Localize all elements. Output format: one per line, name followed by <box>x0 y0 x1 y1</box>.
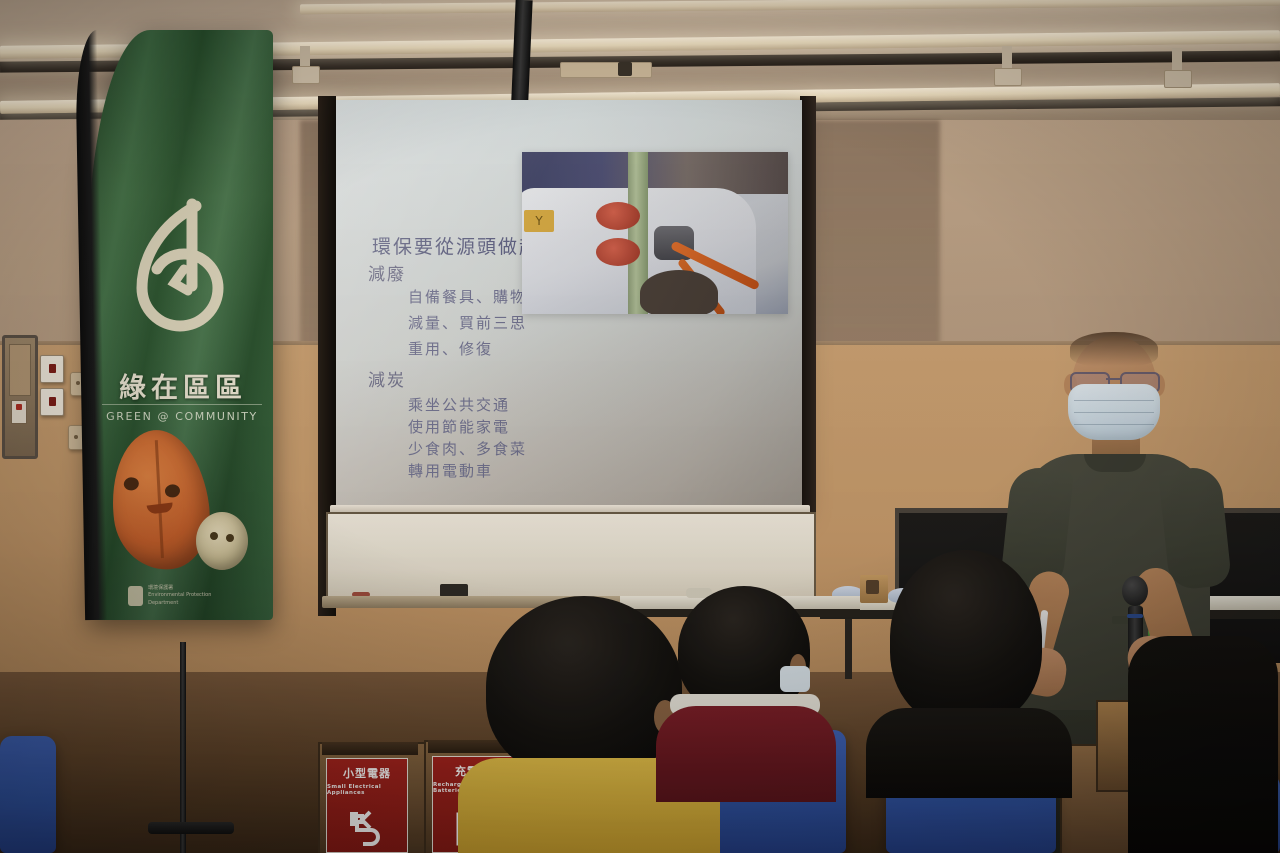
photo-tail-lamp <box>596 202 640 230</box>
microphone-head-icon <box>1122 576 1148 606</box>
audience-chair[interactable] <box>0 736 56 853</box>
slide-heading-reduce-carbon: 減炭 <box>368 366 406 391</box>
slide-bullet: 少食肉、多食菜 <box>408 438 527 459</box>
panel-face <box>9 344 31 396</box>
photo-foreground-shadow <box>640 270 718 314</box>
bin-label-small-appliances: 小型電器 Small Electrical Appliances <box>326 758 408 853</box>
audience-head <box>890 550 1042 726</box>
audience-face-mask <box>780 666 810 692</box>
plug-icon <box>344 806 390 850</box>
epd-name-en: Environmental Protection Department <box>148 592 220 607</box>
epd-name-cn: 環境保護署 <box>148 585 220 592</box>
green-community-logo-icon <box>122 190 238 355</box>
light-mount-plate <box>1164 70 1192 88</box>
feather-flag-banner: 綠在區區 GREEN @ COMMUNITY 環境保護署 Environment… <box>88 30 273 620</box>
photo-licence-plate: Y <box>524 210 554 232</box>
banner-chinese-title: 綠在區區 <box>108 366 258 405</box>
bin-label-en: Small Electrical Appliances <box>327 784 407 796</box>
wall-switch[interactable] <box>40 388 64 416</box>
beige-roll-mascot-icon <box>196 512 248 570</box>
switch-indicator <box>49 364 56 373</box>
projection-screen: 環保要從源頭做起 減廢 自備餐具、購物袋 減量、買前三思 重用、修復 減炭 乘坐… <box>336 100 802 508</box>
audience-top-dark <box>1128 636 1278 853</box>
speaker-collar <box>1084 454 1146 472</box>
light-mount-plate <box>994 68 1022 86</box>
wood-stand-slot <box>866 580 879 594</box>
photo-scene: 綠在區區 GREEN @ COMMUNITY 環境保護署 Environment… <box>0 0 1280 853</box>
epd-logo: 環境保護署 Environmental Protection Departmen… <box>128 583 220 609</box>
ceiling-sensor <box>618 62 632 76</box>
audience-top-dark <box>866 708 1072 798</box>
slide-title: 環保要從源頭做起 <box>372 232 540 259</box>
wall-switch[interactable] <box>40 355 64 383</box>
audience-sweater-maroon <box>656 706 836 802</box>
slide-photo-ev-charging: Y <box>522 152 788 314</box>
panel-indicator <box>11 400 27 424</box>
photo-tail-lamp <box>596 238 640 266</box>
slide-heading-reduce-waste: 減廢 <box>368 260 406 285</box>
table-leg <box>845 619 852 679</box>
banner-english-title: GREEN @ COMMUNITY <box>102 404 262 423</box>
ceiling-vent <box>560 62 652 78</box>
slide-bullet: 重用、修復 <box>408 338 493 359</box>
slide-bullet: 乘坐公共交通 <box>408 394 510 415</box>
banner-base <box>148 822 234 834</box>
epd-mark-icon <box>128 586 143 606</box>
audience-member-right <box>1128 606 1278 853</box>
slide-bullet: 減量、買前三思 <box>408 312 527 333</box>
audience-head <box>486 596 682 778</box>
light-mount-plate <box>292 66 320 84</box>
bin-label-cn: 小型電器 <box>343 765 391 781</box>
audience-member-dark <box>880 550 1050 780</box>
slide-bullet: 轉用電動車 <box>408 460 493 481</box>
slide-bullet: 使用節能家電 <box>408 416 510 437</box>
audience-member-maroon <box>664 586 824 786</box>
switch-indicator <box>49 397 56 406</box>
speaker-hair <box>1070 332 1158 366</box>
bin-opening <box>322 742 418 755</box>
electrical-panel <box>2 335 38 459</box>
face-mask <box>1068 384 1160 440</box>
